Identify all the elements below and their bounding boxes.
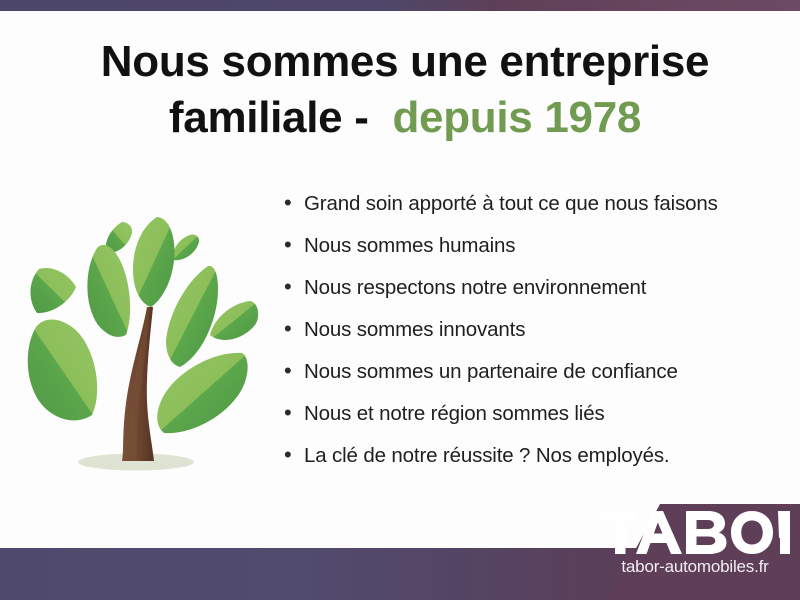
title-dash: - <box>354 93 368 142</box>
page-title: Nous sommes une entreprise familiale - d… <box>60 34 750 147</box>
bullet-marker-icon: • <box>284 234 304 256</box>
bullet-text: La clé de notre réussite ? Nos employés. <box>304 444 669 468</box>
top-accent-bar <box>0 0 800 11</box>
slide-canvas: Nous sommes une entreprise familiale - d… <box>0 0 800 600</box>
bullet-text: Grand soin apporté à tout ce que nous fa… <box>304 192 718 216</box>
value-bullet-list: • Grand soin apporté à tout ce que nous … <box>284 192 784 486</box>
bullet-marker-icon: • <box>284 360 304 382</box>
list-item: • La clé de notre réussite ? Nos employé… <box>284 444 784 486</box>
bullet-marker-icon: • <box>284 444 304 466</box>
bullet-marker-icon: • <box>284 318 304 340</box>
bullet-text: Nous sommes innovants <box>304 318 525 342</box>
title-line-2: familiale - depuis 1978 <box>60 90 750 146</box>
bullet-text: Nous sommes humains <box>304 234 515 258</box>
bullet-text: Nous sommes un partenaire de confiance <box>304 360 678 384</box>
tabor-logo-icon <box>600 511 790 555</box>
list-item: • Nous sommes humains <box>284 234 784 276</box>
bullet-text: Nous et notre région sommes liés <box>304 402 605 426</box>
title-line-2-prefix: familiale <box>169 93 342 142</box>
title-accent-text: depuis 1978 <box>392 93 641 142</box>
title-line-1: Nous sommes une entreprise <box>60 34 750 90</box>
family-tree-illustration <box>14 185 266 480</box>
list-item: • Nous et notre région sommes liés <box>284 402 784 444</box>
logo-tagline: tabor-automobiles.fr <box>600 557 790 577</box>
list-item: • Grand soin apporté à tout ce que nous … <box>284 192 784 234</box>
bullet-marker-icon: • <box>284 402 304 424</box>
bullet-marker-icon: • <box>284 192 304 214</box>
list-item: • Nous respectons notre environnement <box>284 276 784 318</box>
list-item: • Nous sommes innovants <box>284 318 784 360</box>
list-item: • Nous sommes un partenaire de confiance <box>284 360 784 402</box>
bullet-text: Nous respectons notre environnement <box>304 276 646 300</box>
bullet-marker-icon: • <box>284 276 304 298</box>
